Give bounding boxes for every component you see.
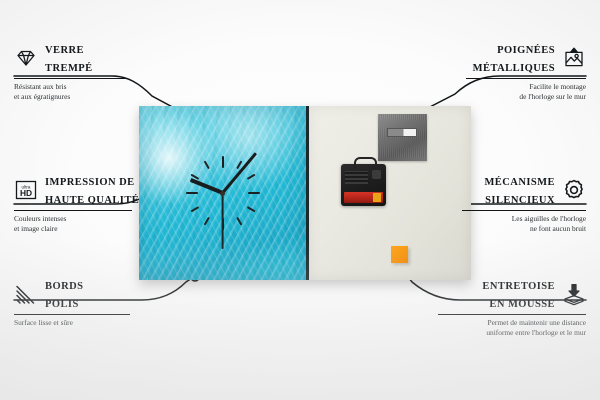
callout-title: MÉCANISME SILENCIEUX	[484, 172, 555, 208]
callout-title: VERRE TREMPÉ	[45, 40, 93, 76]
foam-spacer	[391, 246, 408, 263]
clock-mechanism-box	[341, 164, 386, 206]
battery	[344, 192, 383, 203]
clock-tick-3	[186, 192, 260, 194]
clock-tick-8	[190, 174, 255, 213]
callout-header: ultra HD IMPRESSION DE HAUTE QUALITÉ	[14, 172, 132, 208]
clock-tick-10	[190, 174, 255, 213]
clock-tick-6	[222, 156, 224, 230]
clock-tick-5	[203, 160, 242, 225]
hanger-slot	[387, 128, 417, 137]
callout-poignees-metalliques: POIGNÉES MÉTALLIQUES Facilite le montage…	[466, 40, 586, 101]
callout-mecanisme-silencieux: MÉCANISME SILENCIEUX Les aiguilles de l'…	[462, 172, 586, 233]
callout-subtitle: Résistant aux bris et aux égratignures	[14, 79, 126, 101]
clock-face	[139, 106, 306, 280]
svg-text:HD: HD	[20, 188, 32, 198]
callout-impression-haute-qualite: ultra HD IMPRESSION DE HAUTE QUALITÉ Cou…	[14, 172, 132, 233]
callout-header: BORDS POLIS	[14, 276, 130, 312]
callout-verre-trempe: VERRE TREMPÉ Résistant aux bris et aux é…	[14, 40, 126, 101]
callout-subtitle: Couleurs intenses et image claire	[14, 211, 132, 233]
product-image	[139, 106, 471, 280]
clock-tick-11	[203, 160, 242, 225]
callout-title: POIGNÉES MÉTALLIQUES	[473, 40, 555, 76]
callout-entretoise-en-mousse: ENTRETOISE EN MOUSSE Permet de maintenir…	[438, 276, 586, 337]
clock-tick-9	[186, 192, 260, 194]
callout-subtitle: Facilite le montage de l'horloge sur le …	[466, 79, 586, 101]
clock-back-panel	[309, 106, 471, 280]
callout-subtitle: Les aiguilles de l'horloge ne font aucun…	[462, 211, 586, 233]
callout-title: IMPRESSION DE HAUTE QUALITÉ	[45, 172, 139, 208]
mechanism-hanging-loop	[354, 157, 377, 169]
callout-title: BORDS POLIS	[45, 276, 83, 312]
metal-hanger-plate	[378, 114, 427, 161]
polished-edge-icon	[14, 282, 38, 306]
clock-tick-1	[203, 160, 242, 225]
clock-hour-hand	[189, 178, 223, 195]
callout-title: ENTRETOISE EN MOUSSE	[482, 276, 555, 312]
ultra-hd-icon: ultra HD	[14, 178, 38, 202]
clock-tick-7	[203, 160, 242, 225]
clock-minute-hand	[221, 152, 257, 194]
hanging-picture-icon	[562, 46, 586, 70]
clock-tick-4	[190, 174, 255, 213]
callout-header: VERRE TREMPÉ	[14, 40, 126, 76]
clock-second-hand	[222, 193, 224, 249]
battery-positive-terminal	[373, 193, 381, 202]
callout-subtitle: Surface lisse et sûre	[14, 315, 130, 327]
diamond-icon	[14, 46, 38, 70]
clock-tick-12	[222, 156, 224, 230]
callout-header: ENTRETOISE EN MOUSSE	[438, 276, 586, 312]
mechanism-setting-knob	[372, 170, 381, 179]
foam-spacer-icon	[562, 282, 586, 306]
clock-tick-2	[190, 174, 255, 213]
clock-center-pin	[220, 191, 225, 196]
gear-icon	[562, 178, 586, 202]
callout-bords-polis: BORDS POLIS Surface lisse et sûre	[14, 276, 130, 328]
clock-front-panel	[139, 106, 309, 280]
callout-subtitle: Permet de maintenir une distance uniform…	[438, 315, 586, 337]
callout-header: MÉCANISME SILENCIEUX	[462, 172, 586, 208]
mechanism-vents	[345, 171, 368, 184]
callout-header: POIGNÉES MÉTALLIQUES	[466, 40, 586, 76]
infographic-canvas: VERRE TREMPÉ Résistant aux bris et aux é…	[0, 0, 600, 400]
